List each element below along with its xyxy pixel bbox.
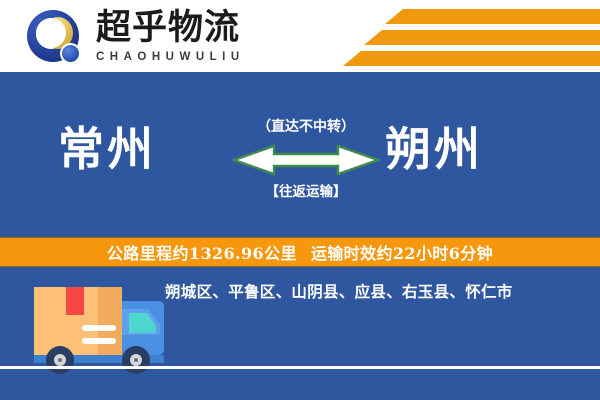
coverage-districts: 朔城区、平鲁区、山阴县、应县、右玉县、怀仁市 [165, 280, 585, 302]
brand-name-cn: 超乎物流 [96, 9, 271, 47]
duration-text: 运输时效约22小时6分钟 [311, 240, 493, 264]
banner-body: 常州 （直达不中转） 【往返运输】 朔州 公路里程约1326.96公里 运输时效… [0, 72, 600, 400]
brand-name-pinyin: CHAOHUWULIU [96, 49, 271, 65]
truck-svg [26, 279, 176, 375]
round-trip-note: 【往返运输】 [232, 183, 380, 201]
route-info-bar: 公路里程约1326.96公里 运输时效约22小时6分钟 [0, 237, 600, 267]
circle-crescent-logo-icon [27, 10, 83, 66]
orange-slanted-stripes-icon [330, 0, 600, 72]
bidirectional-arrow-icon [232, 143, 380, 177]
stripe-3 [343, 51, 600, 66]
logo-crescent-cut [36, 18, 66, 48]
stripe-2 [364, 30, 600, 45]
delivery-truck-icon [26, 279, 176, 375]
direct-service-note: （直达不中转） [232, 118, 380, 136]
arrow-svg [232, 143, 380, 177]
logistics-route-banner: 超乎物流 CHAOHUWULIU 常州 （直达不中转） 【往返运输】 朔州 公路… [0, 0, 600, 400]
stripe-1 [385, 9, 600, 24]
distance-text: 公路里程约1326.96公里 [107, 240, 297, 264]
route-middle-column: （直达不中转） 【往返运输】 [232, 118, 380, 201]
brand-block: 超乎物流 CHAOHUWULIU [96, 9, 271, 65]
bottom-divider [0, 366, 600, 369]
logo-dot [60, 43, 81, 64]
origin-city: 常州 [58, 124, 156, 174]
destination-city: 朔州 [385, 124, 483, 174]
banner-header: 超乎物流 CHAOHUWULIU [0, 0, 600, 72]
